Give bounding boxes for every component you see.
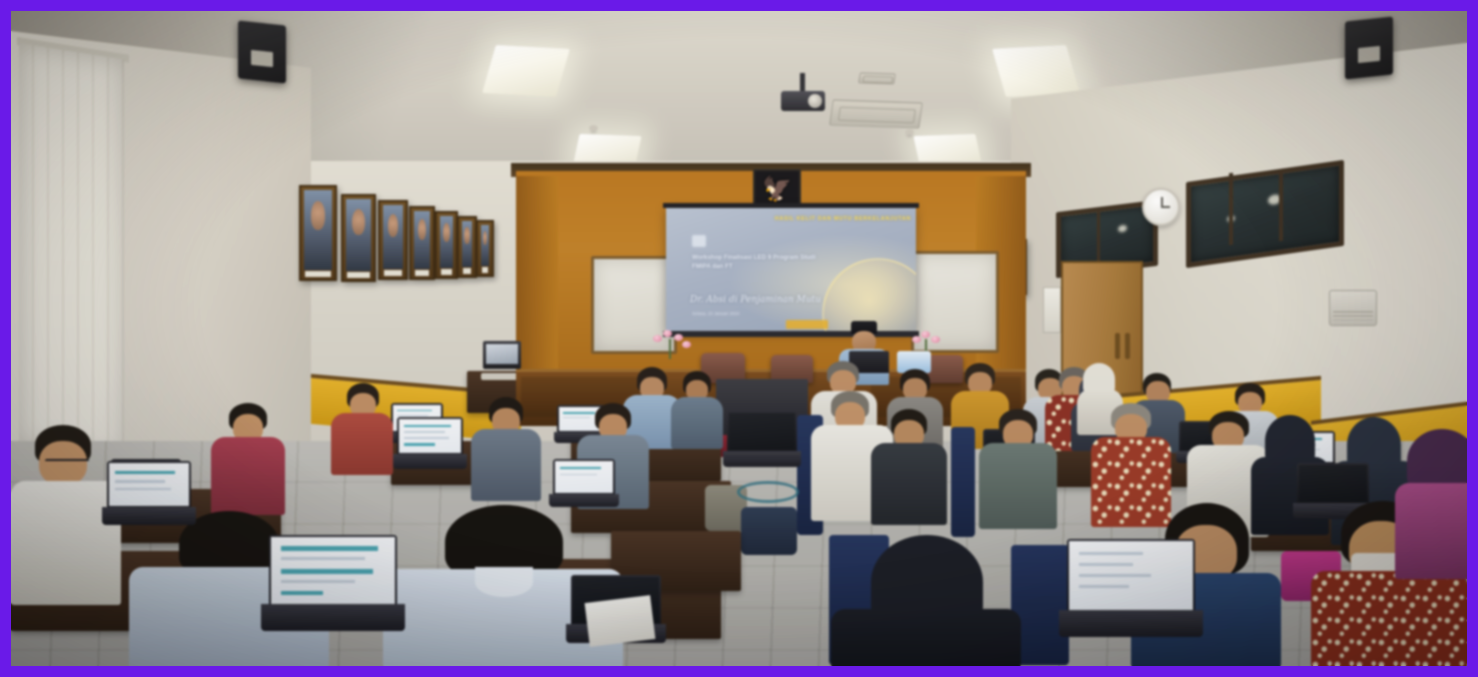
floor-cable-coil: [737, 481, 799, 503]
portrait-gallery: [299, 173, 479, 293]
portrait-2: [341, 194, 376, 282]
seminar-room-photo: 🦅 HASIL KELIT DAN MUTU BERKELANJUTAN Wor…: [11, 11, 1467, 666]
attendee-mid-6: [979, 409, 1057, 529]
attendee-torso: [11, 481, 121, 605]
laptop-front-3[interactable]: [107, 461, 191, 525]
slide-banner-text: HASIL KELIT DAN MUTU BERKELANJUTAN: [775, 216, 911, 222]
window-mullion-2: [1279, 169, 1283, 242]
slide-script-text: Dr. Absi di Penjaminan Mutu: [690, 295, 821, 305]
attendee-torso: [471, 429, 541, 501]
attendee-torso: [831, 609, 1021, 666]
attendee-front-7: [1395, 429, 1467, 579]
side-monitor-screen: [486, 344, 518, 364]
door-handle-right[interactable]: [1125, 333, 1130, 359]
attendee-torso: [871, 443, 947, 525]
laptop-mid-3[interactable]: [727, 411, 797, 467]
attendee-mid-5: [871, 409, 947, 525]
attendee-glasses: [45, 459, 89, 469]
slide-badge: [786, 320, 828, 329]
attendee-mid-11: [211, 403, 285, 515]
attendee-torso: [671, 397, 723, 449]
wall-clock: [1142, 188, 1180, 226]
attendee-torso: [331, 413, 393, 475]
vertical-blinds: [19, 43, 124, 460]
attendee-torso: [1395, 483, 1467, 579]
laptop-front-2[interactable]: [1067, 539, 1195, 637]
chair-mid-2: [951, 427, 975, 537]
orchid-decoration-left: [651, 329, 691, 359]
portrait-5: [435, 211, 458, 279]
attendee-front-4: [831, 535, 1021, 666]
window-mullion-3: [1097, 209, 1100, 261]
attendee-torso: [1311, 571, 1467, 666]
portrait-4: [409, 206, 435, 280]
screen-top-bar: [663, 203, 919, 208]
paper-sheet: [585, 595, 656, 647]
attendee-back-2: [671, 371, 723, 449]
slide-title: Workshop Finalisasi LED 9 Program Studi …: [692, 253, 816, 272]
floor-bag-2: [741, 507, 797, 555]
garuda-pancasila-emblem: 🦅: [762, 178, 792, 202]
laptop-mid-2[interactable]: [553, 459, 615, 507]
attendee-torso: [979, 443, 1057, 529]
notice-poster: [1043, 287, 1061, 333]
wood-column-left: [516, 176, 558, 391]
wall-ac-control: [1329, 290, 1377, 326]
laptop-mid-1[interactable]: [397, 417, 463, 469]
attendee-mid-2: [471, 397, 541, 501]
window-mullion-1: [1229, 173, 1233, 246]
attendee-mid-1: [331, 383, 393, 475]
portrait-6: [457, 216, 477, 278]
portrait-3: [378, 200, 408, 280]
photo-frame: 🦅 HASIL KELIT DAN MUTU BERKELANJUTAN Wor…: [0, 0, 1478, 677]
wall-speaker-right: [1345, 16, 1393, 79]
slide-title-line1: Workshop Finalisasi LED 9 Program Studi: [692, 253, 816, 262]
slide-title-line2: FMIPA dan FT: [692, 262, 816, 271]
laptop-front-1[interactable]: [269, 535, 397, 631]
portrait-7: [476, 220, 494, 277]
slide-date-text: Selasa, 23 Januari 2024: [692, 311, 739, 316]
door-handle-left[interactable]: [1115, 333, 1120, 359]
attendee-collar: [475, 567, 533, 597]
slide-logo: [692, 235, 706, 247]
attendee-torso: [211, 437, 285, 515]
portrait-1: [299, 185, 337, 281]
projection-screen: HASIL KELIT DAN MUTU BERKELANJUTAN Works…: [666, 207, 916, 332]
wall-speaker-left: [238, 20, 286, 83]
